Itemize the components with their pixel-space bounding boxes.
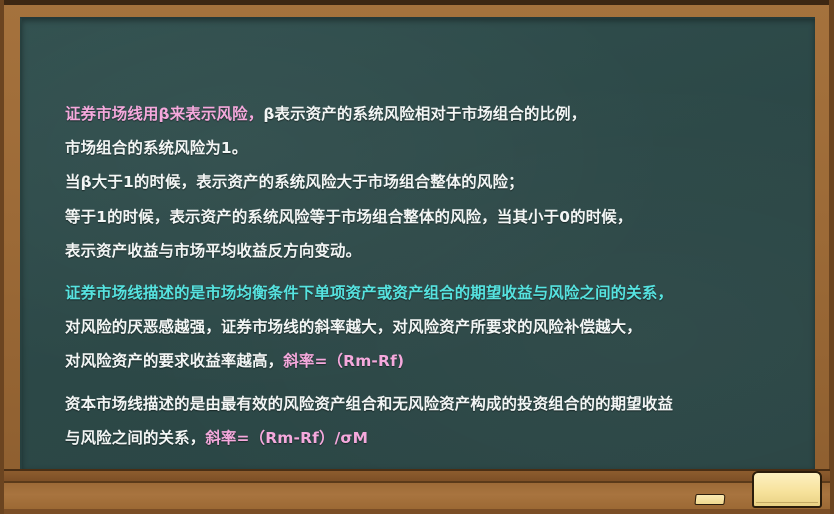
frame-left-edge <box>0 0 4 514</box>
lecture-notes-text: 证券市场线用β来表示风险，β表示资产的系统风险相对于市场组合的比例，市场组合的系… <box>65 97 817 455</box>
eraser-icon[interactable] <box>752 471 822 508</box>
chalkboard-surface: 证券市场线用β来表示风险，β表示资产的系统风险相对于市场组合的比例，市场组合的系… <box>20 17 815 469</box>
text-line: 证券市场线描述的是市场均衡条件下单项资产或资产组合的期望收益与风险之间的关系， <box>65 276 817 310</box>
text-line: 市场组合的系统风险为1。 <box>65 131 817 165</box>
text-segment: 当β大于1的时候，表示资产的系统风险大于市场组合整体的风险； <box>65 173 524 191</box>
text-segment: 对风险的厌恶感越强，证券市场线的斜率越大，对风险资产所要求的风险补偿越大， <box>65 318 642 336</box>
text-line: 证券市场线用β来表示风险，β表示资产的系统风险相对于市场组合的比例， <box>65 97 817 131</box>
text-line: 与风险之间的关系，斜率=（Rm-Rf）/σM <box>65 421 817 455</box>
chalk-stick-icon[interactable] <box>694 494 725 505</box>
text-segment: 与风险之间的关系， <box>65 429 205 447</box>
text-segment: 证券市场线用β来表示风险， <box>65 105 263 123</box>
tray-front-lip <box>4 509 830 514</box>
text-segment: 表示资产收益与市场平均收益反方向变动。 <box>65 242 361 260</box>
text-segment: 对风险资产的要求收益率越高， <box>65 352 283 370</box>
text-segment: 资本市场线描述的是由最有效的风险资产组合和无风险资产构成的投资组合的的期望收益 <box>65 395 673 413</box>
chalkboard-scene: 证券市场线用β来表示风险，β表示资产的系统风险相对于市场组合的比例，市场组合的系… <box>0 0 834 514</box>
text-line: 等于1的时候，表示资产的系统风险等于市场组合整体的风险，当其小于0的时候， <box>65 200 817 234</box>
frame-top-edge <box>0 0 834 5</box>
text-line: 对风险的厌恶感越强，证券市场线的斜率越大，对风险资产所要求的风险补偿越大， <box>65 310 817 344</box>
text-segment: 证券市场线描述的是市场均衡条件下单项资产或资产组合的期望收益与风险之间的关系， <box>65 284 673 302</box>
text-line: 对风险资产的要求收益率越高，斜率=（Rm-Rf) <box>65 344 817 378</box>
text-segment: 斜率=（Rm-Rf）/σM <box>205 429 368 447</box>
text-segment: 等于1的时候，表示资产的系统风险等于市场组合整体的风险，当其小于0的时候， <box>65 208 633 226</box>
frame-right-edge <box>829 0 834 514</box>
chalk-tray <box>4 469 830 514</box>
text-segment: 斜率=（Rm-Rf) <box>283 352 404 370</box>
text-line: 表示资产收益与市场平均收益反方向变动。 <box>65 234 817 268</box>
text-segment: 市场组合的系统风险为1。 <box>65 139 247 157</box>
text-segment: β表示资产的系统风险相对于市场组合的比例， <box>263 105 586 123</box>
text-line: 当β大于1的时候，表示资产的系统风险大于市场组合整体的风险； <box>65 165 817 199</box>
text-line: 资本市场线描述的是由最有效的风险资产组合和无风险资产构成的投资组合的的期望收益 <box>65 387 817 421</box>
